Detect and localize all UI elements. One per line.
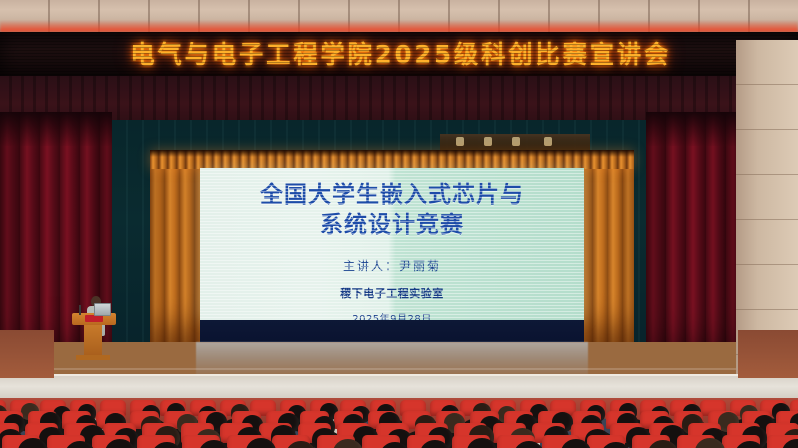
illuminated-pelmet <box>150 150 634 169</box>
slide-title-line-2: 系统设计竞赛 <box>214 210 570 240</box>
slide-title-line-1: 全国大学生嵌入式芯片与 <box>214 180 570 210</box>
ceiling-panels <box>0 0 798 32</box>
stage-lamp-icon <box>512 137 520 146</box>
curtain-gold-right <box>578 150 634 350</box>
led-banner: 电气与电子工程学院2025级科创比赛宣讲会 <box>0 32 798 78</box>
curtain-crimson-left-header <box>0 112 112 146</box>
curtain-crimson-right <box>646 112 736 374</box>
stage-floor-reflection <box>196 342 588 376</box>
side-wall-right <box>736 40 798 380</box>
audience-area <box>0 398 798 448</box>
led-banner-inner: 电气与电子工程学院2025级科创比赛宣讲会 <box>14 36 788 70</box>
curtain-gold-left <box>150 150 202 350</box>
stage-lamp-icon <box>544 137 552 146</box>
slide-date: 2025年9月28日 <box>214 310 570 320</box>
stage-lamp-icon <box>484 137 492 146</box>
curtain-crimson-right-header <box>646 112 736 146</box>
projection-screen: 全国大学生嵌入式芯片与 系统设计竞赛 主讲人：尹丽菊 稷下电子工程实验室 202… <box>200 168 584 320</box>
auditorium-photo: 电气与电子工程学院2025级科创比赛宣讲会 全国大学生嵌入式芯片与 系统 <box>0 0 798 448</box>
screen-base-band <box>200 320 584 342</box>
microphone-icon <box>79 305 81 315</box>
stage-lamp-icon <box>456 137 464 146</box>
led-banner-text: 电气与电子工程学院2025级科创比赛宣讲会 <box>131 35 672 71</box>
slide-organization: 稷下电子工程实验室 <box>214 285 570 301</box>
podium-base <box>76 355 110 360</box>
laptop-icon <box>94 303 111 316</box>
side-wall-tile-seams <box>736 40 798 380</box>
stage-floor-edge-line <box>0 368 798 370</box>
pelmet-shadow <box>150 150 634 157</box>
slide-content: 全国大学生嵌入式芯片与 系统设计竞赛 主讲人：尹丽菊 稷下电子工程实验室 202… <box>200 168 584 320</box>
podium-stem <box>84 325 102 357</box>
slide-speaker-label: 主讲人：尹丽菊 <box>214 257 570 274</box>
lighting-truss <box>440 134 590 150</box>
ceiling-red-led-glow <box>0 20 798 32</box>
podium-plaque <box>85 315 103 322</box>
hall-wall-right <box>738 330 798 378</box>
hall-wall-left <box>0 330 54 378</box>
